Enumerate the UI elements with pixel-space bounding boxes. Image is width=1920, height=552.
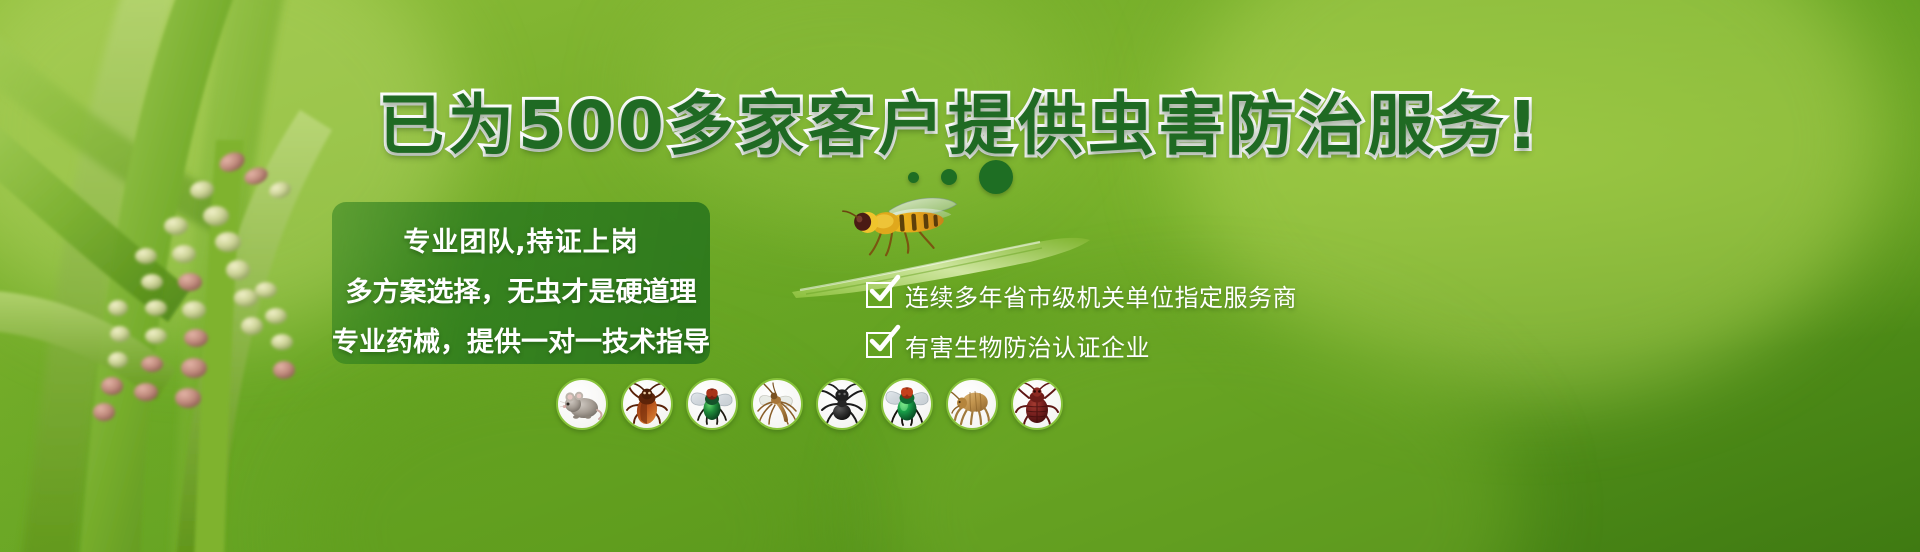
headline-dot-decoration [0,160,1920,194]
slogan-panel: 专业团队,持证上岗 多方案选择，无虫才是硬道理 专业药械，提供一对一技术指导 [332,202,710,364]
mosquito-icon[interactable]: 蚊 [751,378,803,430]
mouse-icon[interactable]: 鼠 [556,378,608,430]
checklist-item-text: 连续多年省市级机关单位指定服务商 [905,278,1297,313]
pest-icon-row: 鼠 蟑螂 [556,378,1063,430]
hoverfly-insect [836,192,970,261]
flea-icon[interactable]: 跳蚤 [946,378,998,430]
housefly-icon[interactable]: 蝇 [686,378,738,430]
checklist-item: 连续多年省市级机关单位指定服务商 [866,272,1296,318]
slogan-line-3: 专业药械，提供一对一技术指导 [332,320,710,359]
certification-checklist: 连续多年省市级机关单位指定服务商 有害生物防治认证企业 [866,272,1296,372]
greenbottle-fly-icon[interactable]: 绿头蝇 [881,378,933,430]
dot-medium-icon [941,169,957,185]
checklist-item: 有害生物防治认证企业 [866,322,1296,368]
checkbox-checked-icon [866,332,892,358]
ant-icon[interactable]: 蚁 [816,378,868,430]
bedbug-icon[interactable]: 臭虫 [1011,378,1063,430]
cockroach-icon[interactable]: 蟑螂 [621,378,673,430]
dot-large-icon [979,160,1013,194]
dot-small-icon [908,172,919,183]
banner-headline: 已为500多家客户提供虫害防治服务! [0,72,1920,168]
slogan-line-2: 多方案选择，无虫才是硬道理 [332,270,710,309]
checkbox-checked-icon [866,282,892,308]
checklist-item-text: 有害生物防治认证企业 [905,328,1150,363]
pest-control-banner: 已为500多家客户提供虫害防治服务! [0,0,1920,552]
banner-headline-text: 已为500多家客户提供虫害防治服务! [378,87,1542,164]
slogan-line-1: 专业团队,持证上岗 [332,220,710,259]
